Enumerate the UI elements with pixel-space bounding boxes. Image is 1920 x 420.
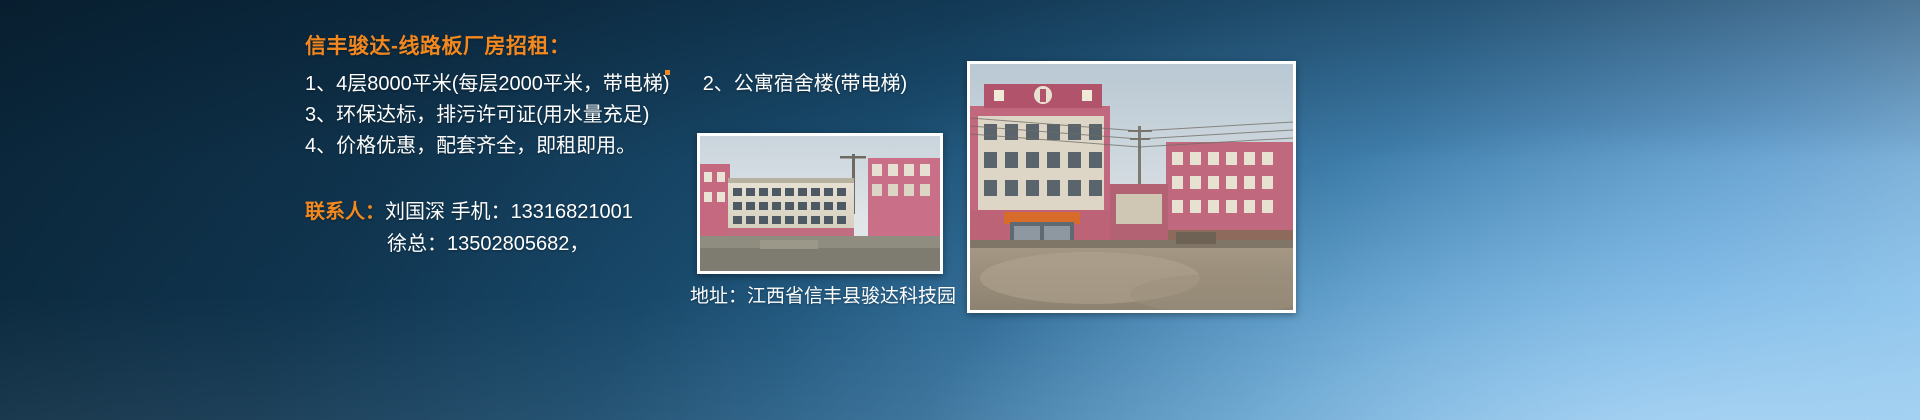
promo-banner: 信丰骏达-线路板厂房招租： 1、4层8000平米(每层2000平米，带电梯) 2… [0,0,1920,420]
contact-line-secondary: 徐总：13502805682， [305,228,965,260]
phone-number-secondary: 13502805682， [447,233,589,255]
copy-block: 信丰骏达-线路板厂房招租： 1、4层8000平米(每层2000平米，带电梯) 2… [305,32,965,260]
bullet-item-3: 4、价格优惠，配套齐全，即租即用。 [305,131,965,162]
bullet-1-extra: 2、公寓宿舍楼(带电梯) [703,73,907,95]
contact-label: 联系人 [305,201,365,223]
phone-label: 手机 [451,201,491,223]
phone-separator-secondary: ： [427,233,447,255]
contact-name-secondary: 徐总 [387,233,427,255]
bullet-item-1: 1、4层8000平米(每层2000平米，带电梯) 2、公寓宿舍楼(带电梯) [305,69,965,100]
contact-name: 刘国深 [385,201,445,223]
bullet-1-main: 1、4层8000平米(每层2000平米，带电梯) [305,73,670,95]
orange-dot-marker [665,70,670,75]
page-title: 信丰骏达-线路板厂房招租： [305,32,965,62]
bullet-3-main: 4、价格优惠，配套齐全，即租即用。 [305,135,636,157]
contact-block: 联系人：刘国深 手机：13316821001 徐总：13502805682， [305,196,965,260]
contact-line-primary: 联系人：刘国深 手机：13316821001 [305,196,965,228]
factory-gate-image [970,64,1293,310]
bullet-item-2: 3、环保达标，排污许可证(用水量充足) [305,100,965,131]
factory-gate-photo-right [967,61,1296,313]
contact-label-separator: ： [365,201,385,223]
phone-number-primary: 13316821001 [511,201,633,223]
bullet-2-main: 3、环保达标，排污许可证(用水量充足) [305,104,649,126]
address-caption: 地址：江西省信丰县骏达科技园 [690,283,956,311]
phone-separator: ： [491,201,511,223]
